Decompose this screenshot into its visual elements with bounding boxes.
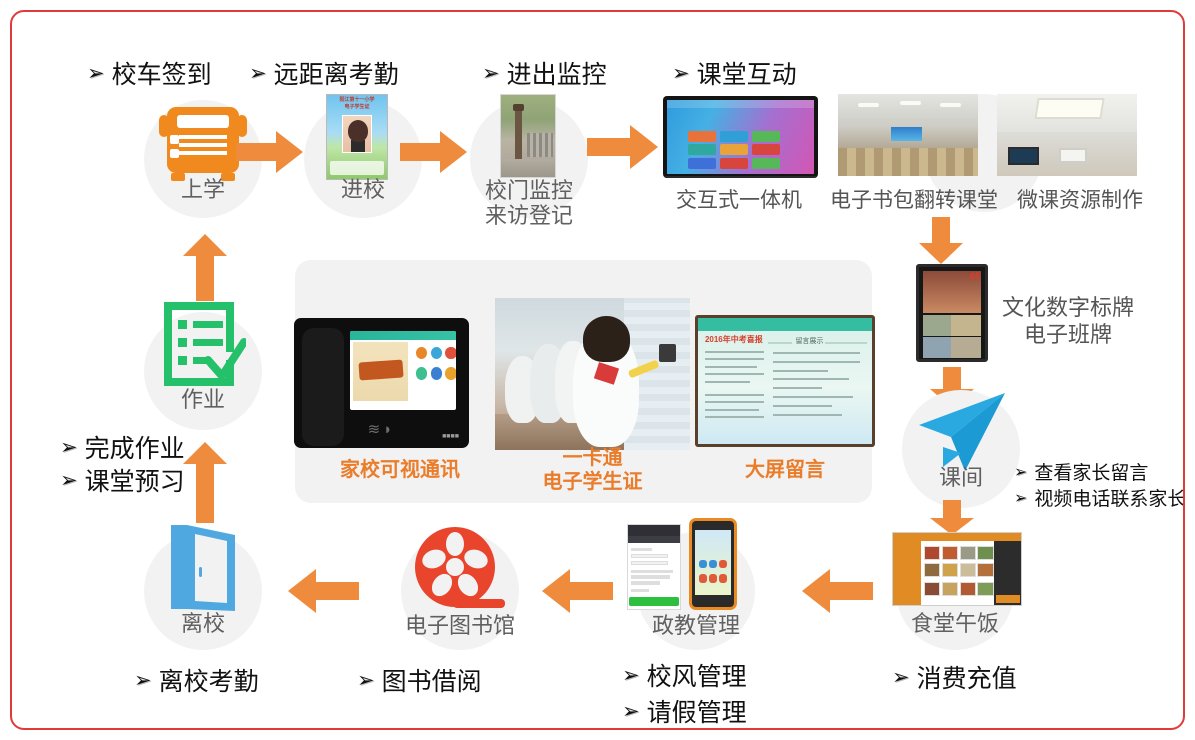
classroom-item-label-2: 微课资源制作 [1000, 184, 1160, 214]
bullet-label: 请假管理 [647, 698, 747, 729]
bullet-book-borrow: ➢ 图书借阅 [357, 667, 482, 698]
arrow-library-to-leave [288, 568, 360, 619]
caption-one-card-line2: 电子学生证 [495, 470, 690, 494]
canteen-app-icon [892, 532, 1022, 606]
micro-class-room-icon [997, 94, 1137, 176]
bullet-arrow-icon: ➢ [482, 60, 500, 88]
caption-visual-phone: 家校可视通讯 [305, 458, 495, 482]
arrow-leave-to-homework [182, 442, 228, 529]
bullet-label: 离校考勤 [159, 667, 259, 698]
bullet-leave-attendance: ➢ 离校考勤 [134, 667, 259, 698]
center-panel: ≋◗ ■■■■ 2016年中考喜报 留言展示 [295, 260, 872, 503]
signage-label: 文化数字标牌 电子班牌 [1002, 295, 1134, 349]
bullet-conduct-management: ➢ 校风管理 [622, 662, 747, 693]
bullet-leave-request: ➢ 请假管理 [622, 698, 747, 729]
visual-phone-icon: ≋◗ ■■■■ [294, 318, 469, 448]
film-reel-icon [401, 526, 519, 612]
bullet-arrow-icon: ➢ [1014, 462, 1027, 484]
node-label: 课间 [892, 466, 1030, 491]
signage-label-line2: 电子班牌 [1002, 322, 1134, 349]
bullet-arrow-icon: ➢ [672, 60, 690, 88]
brand-mark: ■■■■ [442, 433, 459, 440]
bullet-classroom-interaction: ➢ 课堂互动 [672, 60, 797, 91]
bullet-label: 课堂互动 [697, 60, 797, 91]
arrow-enter-to-gate [400, 130, 468, 179]
arrow-homework-to-school [182, 234, 228, 307]
digital-signage-icon: 65 [916, 264, 988, 362]
node-label: 政教管理 [613, 614, 779, 639]
caption-message-board: 大屏留言 [695, 458, 875, 482]
bullet-label: 远距离考勤 [274, 60, 399, 91]
classroom-item-label-0: 交互式一体机 [649, 184, 829, 214]
arrow-to-school-to-enter [236, 130, 304, 179]
interactive-panel-icon [663, 96, 818, 178]
bullet-arrow-icon: ➢ [622, 662, 640, 690]
caption-one-card: 一卡通 电子学生证 [495, 446, 690, 494]
bullet-arrow-icon: ➢ [134, 667, 152, 695]
arrow-classroom-to-signage [918, 217, 964, 270]
bullet-arrow-icon: ➢ [60, 467, 78, 495]
node-label: 食堂午饭 [872, 612, 1038, 637]
student-card-icon: 阳江第十一小学电子学生证 [326, 94, 388, 180]
bullet-remote-attendance: ➢ 远距离考勤 [249, 60, 399, 91]
bullet-arrow-icon: ➢ [622, 698, 640, 726]
bullet-arrow-icon: ➢ [60, 434, 78, 462]
bullet-arrow-icon: ➢ [892, 664, 910, 692]
gate-camera-icon [500, 94, 556, 178]
message-board-section: 留言展示 [795, 336, 823, 346]
bullet-label: 视频电话联系家长 [1034, 488, 1185, 511]
node-gate-monitor[interactable]: 校门监控 来访登记 [470, 100, 588, 218]
arrow-moral-to-library [542, 568, 614, 619]
handheld-terminal-icon [689, 518, 737, 610]
caption-one-card-line1: 一卡通 [495, 446, 690, 470]
paper-plane-icon [902, 390, 1020, 474]
bullet-arrow-icon: ➢ [87, 60, 105, 88]
node-label-line2: 来访登记 [446, 203, 612, 228]
bullet-label: 校风管理 [647, 662, 747, 693]
bullet-bus-checkin: ➢ 校车签到 [87, 60, 212, 91]
bullet-label: 消费充值 [917, 664, 1017, 695]
node-homework[interactable]: 作业 [144, 312, 262, 430]
open-door-icon [144, 524, 262, 612]
card-scan-photo-icon [495, 298, 690, 450]
node-label: 离校 [120, 612, 286, 637]
classroom-photo-icon [838, 94, 978, 176]
message-board-icon: 2016年中考喜报 留言展示 [695, 315, 875, 447]
bullet-view-parent-message: ➢ 查看家长留言 [1014, 462, 1148, 485]
bullet-video-call-parent: ➢ 视频电话联系家长 [1014, 488, 1185, 511]
classroom-item-label-1: 电子书包翻转课堂 [814, 184, 1014, 214]
message-board-title: 2016年中考喜报 [705, 334, 763, 345]
node-label: 电子图书馆 [377, 614, 543, 639]
bullet-arrow-icon: ➢ [357, 667, 375, 695]
homework-checklist-icon [144, 300, 262, 392]
node-label: 作业 [120, 388, 286, 413]
diagram-frame: ➢ 校车签到 ➢ 远距离考勤 ➢ 进出监控 ➢ 课堂互动 [10, 10, 1185, 730]
bullet-consumption-recharge: ➢ 消费充值 [892, 664, 1017, 695]
bullet-label: 完成作业 [85, 434, 185, 465]
bullet-finish-homework: ➢ 完成作业 [60, 434, 185, 465]
node-leave-school[interactable]: 离校 [144, 532, 262, 650]
node-label: 校门监控 来访登记 [446, 178, 612, 228]
discipline-app-screen-icon [627, 524, 681, 610]
node-label: 进校 [280, 178, 446, 203]
nfc-icon: ≋◗ [368, 420, 396, 438]
signage-label-line1: 文化数字标牌 [1002, 295, 1134, 322]
bullet-label: 进出监控 [507, 60, 607, 91]
node-moral-education[interactable]: 政教管理 [637, 532, 755, 650]
signage-badge: 65 [970, 271, 980, 281]
bullet-label: 图书借阅 [382, 667, 482, 698]
arrow-canteen-to-moral [802, 568, 874, 619]
node-label: 上学 [120, 178, 286, 203]
bullet-label: 查看家长留言 [1034, 462, 1148, 485]
arrow-gate-to-classroom [587, 124, 659, 175]
bullet-label: 课堂预习 [85, 467, 185, 498]
node-e-library[interactable]: 电子图书馆 [401, 532, 519, 650]
bullet-label: 校车签到 [112, 60, 212, 91]
node-canteen-lunch[interactable]: 食堂午饭 [896, 532, 1014, 650]
bullet-arrow-icon: ➢ [249, 60, 267, 88]
bullet-entry-exit-monitor: ➢ 进出监控 [482, 60, 607, 91]
node-break-time[interactable]: 课间 [902, 390, 1020, 508]
node-label-line1: 校门监控 [446, 178, 612, 203]
bullet-arrow-icon: ➢ [1014, 488, 1027, 510]
bullet-class-preview: ➢ 课堂预习 [60, 467, 185, 498]
